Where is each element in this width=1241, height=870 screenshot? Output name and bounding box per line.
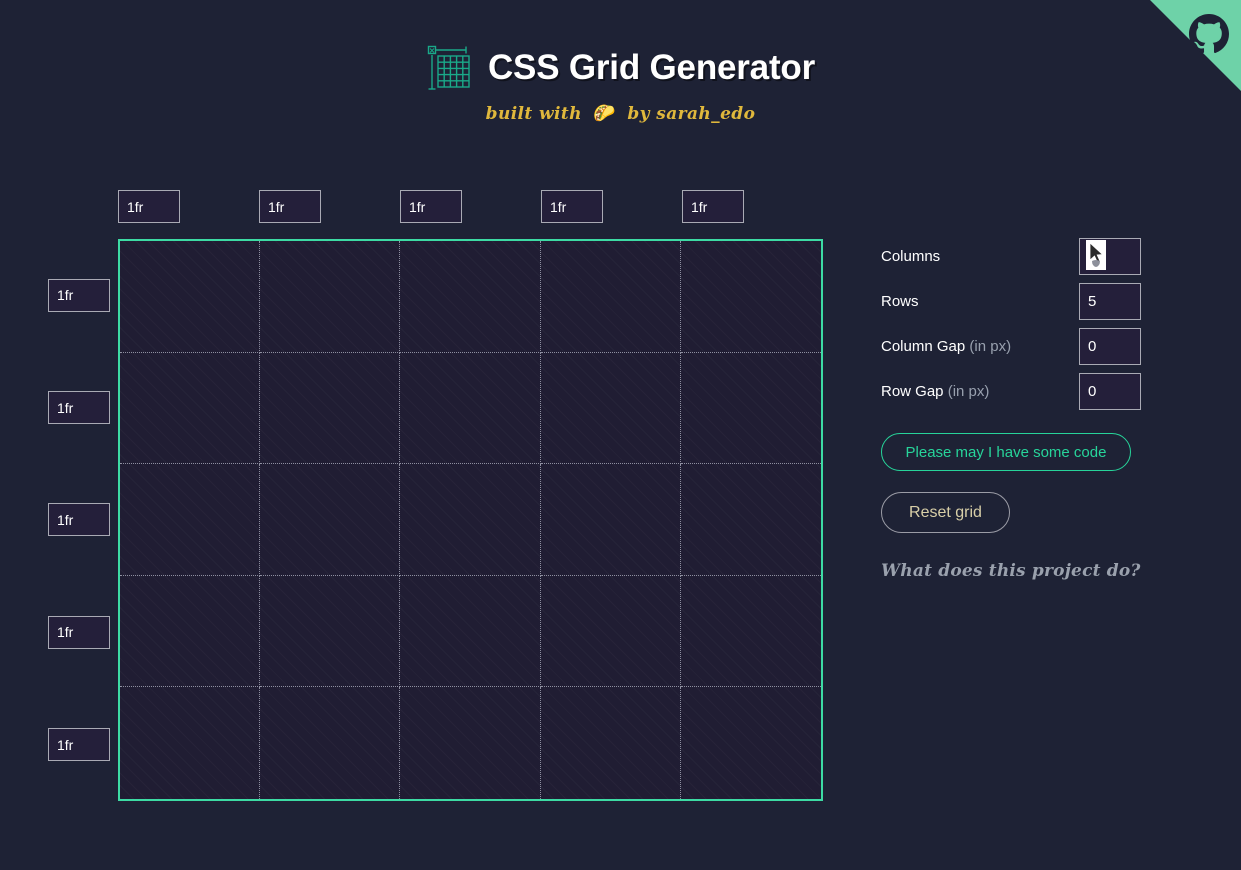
grid-cell[interactable]: [260, 241, 400, 353]
row-size-input-5[interactable]: [48, 728, 110, 761]
column-gap-label: Column Gap (in px): [881, 338, 1011, 355]
row-size-inputs: [48, 239, 110, 801]
column-gap-label-text: Column Gap: [881, 338, 965, 355]
row-size-input-4[interactable]: [48, 616, 110, 649]
page-title: CSS Grid Generator: [488, 48, 815, 88]
rows-label: Rows: [881, 293, 919, 310]
grid-cell[interactable]: [260, 687, 400, 799]
column-gap-unit: (in px): [965, 338, 1011, 355]
column-gap-control-row: Column Gap (in px): [881, 328, 1141, 365]
grid-cell[interactable]: [120, 241, 260, 353]
row-size-cell: [48, 576, 110, 688]
columns-label: Columns: [881, 248, 940, 265]
grid-cell[interactable]: [120, 464, 260, 576]
column-size-cell: [541, 190, 682, 223]
grid-cell[interactable]: [260, 464, 400, 576]
row-gap-label: Row Gap (in px): [881, 383, 989, 400]
grid-cells-container: [120, 241, 821, 799]
columns-control-row: Columns: [881, 238, 1141, 275]
column-size-inputs: [118, 190, 823, 223]
grid-cell[interactable]: [400, 241, 540, 353]
row-gap-label-text: Row Gap: [881, 383, 944, 400]
grid-cell[interactable]: [400, 464, 540, 576]
get-code-button[interactable]: Please may I have some code: [881, 433, 1131, 471]
grid-cell[interactable]: [400, 576, 540, 688]
row-gap-control-row: Row Gap (in px): [881, 373, 1141, 410]
grid-cell[interactable]: [681, 353, 821, 465]
page-subtitle: built with 🌮 by sarah_edo: [0, 103, 1241, 124]
column-size-cell: [400, 190, 541, 223]
row-size-cell: [48, 239, 110, 351]
title-row: CSS Grid Generator: [0, 44, 1241, 92]
rows-input[interactable]: [1079, 283, 1141, 320]
row-size-input-2[interactable]: [48, 391, 110, 424]
row-size-cell: [48, 351, 110, 463]
column-size-cell: [118, 190, 259, 223]
rows-control-row: Rows: [881, 283, 1141, 320]
project-info-link[interactable]: What does this project do?: [881, 561, 1141, 581]
grid-cell[interactable]: [260, 576, 400, 688]
taco-icon: 🌮: [593, 103, 616, 124]
grid-cell[interactable]: [541, 464, 681, 576]
row-gap-unit: (in px): [944, 383, 990, 400]
grid-cell[interactable]: [400, 353, 540, 465]
grid-cell[interactable]: [541, 576, 681, 688]
grid-preview[interactable]: [118, 239, 823, 801]
row-size-cell: [48, 464, 110, 576]
grid-cell[interactable]: [120, 687, 260, 799]
grid-cell[interactable]: [541, 687, 681, 799]
grid-cell[interactable]: [120, 576, 260, 688]
grid-blueprint-icon: [426, 44, 472, 92]
row-size-input-3[interactable]: [48, 503, 110, 536]
columns-input[interactable]: [1079, 238, 1141, 275]
row-size-input-1[interactable]: [48, 279, 110, 312]
row-size-cell: [48, 689, 110, 801]
grid-cell[interactable]: [681, 576, 821, 688]
controls-panel: Columns Rows Column Gap (in px) Row Gap …: [881, 238, 1141, 581]
column-size-input-5[interactable]: [682, 190, 744, 223]
column-size-input-4[interactable]: [541, 190, 603, 223]
column-size-cell: [259, 190, 400, 223]
page-header: CSS Grid Generator built with 🌮 by sarah…: [0, 0, 1241, 124]
column-size-cell: [682, 190, 823, 223]
reset-grid-button[interactable]: Reset grid: [881, 492, 1010, 533]
row-gap-input[interactable]: [1079, 373, 1141, 410]
grid-cell[interactable]: [260, 353, 400, 465]
grid-cell[interactable]: [400, 687, 540, 799]
grid-cell[interactable]: [681, 687, 821, 799]
column-size-input-3[interactable]: [400, 190, 462, 223]
grid-cell[interactable]: [681, 241, 821, 353]
column-size-input-1[interactable]: [118, 190, 180, 223]
grid-cell[interactable]: [120, 353, 260, 465]
subtitle-author: by sarah_edo: [627, 104, 755, 124]
grid-cell[interactable]: [541, 353, 681, 465]
subtitle-prefix: built with: [486, 104, 582, 124]
column-gap-input[interactable]: [1079, 328, 1141, 365]
grid-cell[interactable]: [681, 464, 821, 576]
column-size-input-2[interactable]: [259, 190, 321, 223]
grid-cell[interactable]: [541, 241, 681, 353]
